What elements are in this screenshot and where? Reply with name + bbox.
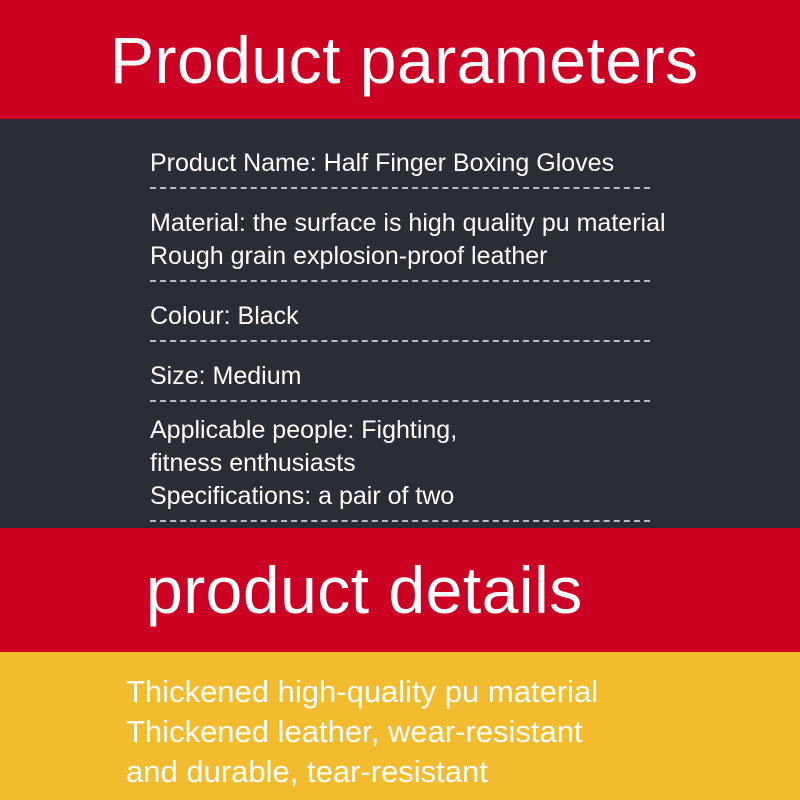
header-banner: Product parameters xyxy=(0,0,800,119)
spec-line: Applicable people: Fighting, xyxy=(150,414,650,447)
features-panel: Thickened high-quality pu material Thick… xyxy=(0,652,800,800)
spec-line: Product Name: Half Finger Boxing Gloves xyxy=(150,147,650,180)
spec-line: fitness enthusiasts xyxy=(150,447,650,480)
feature-line: and durable, tear-resistant xyxy=(126,752,800,792)
details-banner: product details xyxy=(0,528,800,652)
product-info-graphic: Product parameters Product Name: Half Fi… xyxy=(0,0,800,800)
spec-row: Size: Medium xyxy=(150,360,650,402)
spec-line: Colour: Black xyxy=(150,300,650,333)
specification-panel: Product Name: Half Finger Boxing Gloves … xyxy=(0,119,800,528)
feature-line: Thickened leather, wear-resistant xyxy=(126,712,800,752)
specification-list: Product Name: Half Finger Boxing Gloves … xyxy=(150,147,650,522)
spec-line: Specifications: a pair of two xyxy=(150,480,650,513)
spec-row: Colour: Black xyxy=(150,300,650,342)
spec-row: Applicable people: Fighting, fitness ent… xyxy=(150,414,650,522)
spec-line: Size: Medium xyxy=(150,360,650,393)
details-title: product details xyxy=(146,557,583,623)
feature-line: Thickened high-quality pu material xyxy=(126,672,800,712)
spec-row: Product Name: Half Finger Boxing Gloves xyxy=(150,147,650,189)
spec-row: Material: the surface is high quality pu… xyxy=(150,207,650,282)
spec-line: Material: the surface is high quality pu… xyxy=(150,207,650,240)
spec-line: Rough grain explosion-proof leather xyxy=(150,240,650,273)
page-title: Product parameters xyxy=(110,27,699,93)
